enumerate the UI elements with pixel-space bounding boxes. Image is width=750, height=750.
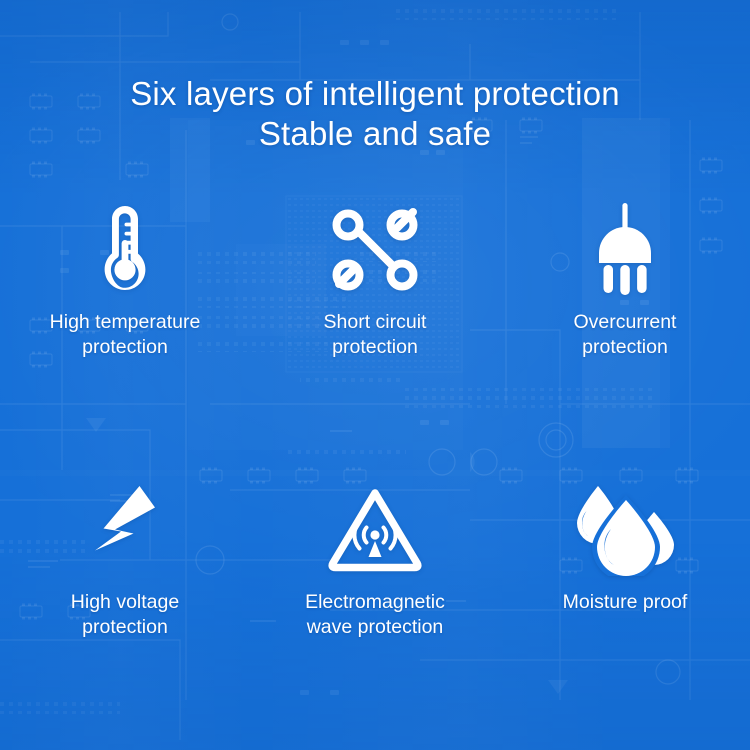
page-title: Six layers of intelligent protection Sta… [0, 74, 750, 154]
feature-label-overcurrent: Overcurrent protection [574, 310, 677, 360]
feature-item-overcurrent: Overcurrent protection [500, 200, 750, 385]
circuit-nodes-icon [329, 200, 421, 300]
feature-label-moisture-proof: Moisture proof [563, 590, 688, 615]
feature-label-electromagnetic-wave: Electromagnetic wave protection [305, 590, 445, 640]
protection-feature-poster: Six layers of intelligent protection Sta… [0, 0, 750, 750]
feature-item-moisture-proof: Moisture proof [500, 480, 750, 665]
feature-item-high-voltage: High voltage protection [0, 480, 250, 665]
feature-item-electromagnetic-wave: Electromagnetic wave protection [250, 480, 500, 665]
feature-item-short-circuit: Short circuit protection [250, 200, 500, 385]
feature-label-short-circuit: Short circuit protection [324, 310, 427, 360]
lightning-bolt-icon [91, 480, 159, 580]
feature-item-high-temperature: High temperature protection [0, 200, 250, 385]
feature-label-high-voltage: High voltage protection [71, 590, 179, 640]
power-plug-icon [589, 200, 661, 300]
thermometer-icon [97, 200, 153, 300]
feature-grid: High temperature protection [0, 200, 750, 665]
water-droplets-icon [572, 480, 678, 580]
radiation-warning-triangle-icon [327, 480, 423, 580]
feature-label-high-temperature: High temperature protection [50, 310, 201, 360]
